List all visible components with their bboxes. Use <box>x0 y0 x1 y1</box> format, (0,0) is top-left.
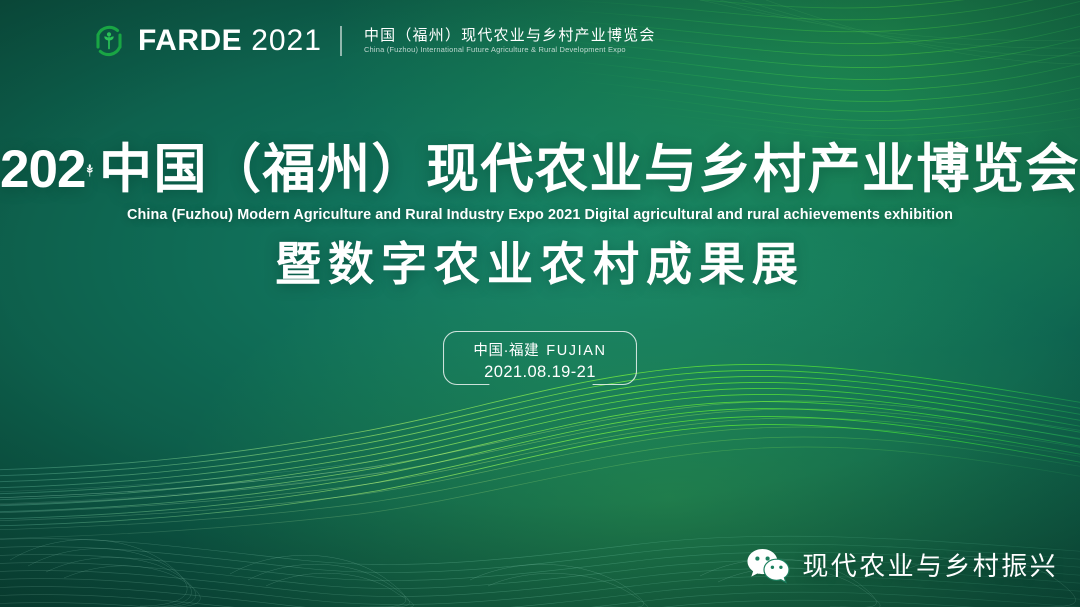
wechat-account[interactable]: 现代农业与乡村振兴 <box>746 547 1058 585</box>
badge-location-en: FUJIAN <box>546 343 606 359</box>
badge-location-cn: 中国·福建 <box>473 343 539 359</box>
badge-location: 中国·福建FUJIAN <box>443 339 637 360</box>
farde-sprout-logo-icon <box>92 24 126 58</box>
location-date-badge: 中国·福建FUJIAN 2021.08.19-21 <box>443 331 637 386</box>
wheat-sprout-icon <box>85 146 95 194</box>
header-divider <box>340 26 342 56</box>
background-decoration <box>0 0 1080 607</box>
main-title: 202 中国（福州）现代农业与乡村产业博览会 <box>0 142 1080 198</box>
header-title-cn: 中国（福州）现代农业与乡村产业博览会 <box>364 27 656 44</box>
title-year-prefix: 202 <box>0 142 85 198</box>
wechat-icon <box>746 547 790 585</box>
title-main-cn: 中国（福州）现代农业与乡村产业博览会 <box>99 142 1080 198</box>
header-names: 中国（福州）现代农业与乡村产业博览会 China (Fuzhou) Intern… <box>364 27 656 55</box>
vignette-overlay <box>0 0 1080 607</box>
expo-poster: FARDE 2021 中国（福州）现代农业与乡村产业博览会 China (Fuz… <box>0 0 1080 607</box>
brand-wordmark: FARDE 2021 <box>138 26 322 56</box>
title-english-line: China (Fuzhou) Modern Agriculture and Ru… <box>0 207 1080 223</box>
brand-header: FARDE 2021 中国（福州）现代农业与乡村产业博览会 China (Fuz… <box>92 24 656 58</box>
title-sub-cn: 暨数字农业农村成果展 <box>0 239 1080 290</box>
brand-name: FARDE <box>138 26 242 56</box>
title-block: 202 中国（福州）现代农业与乡村产业博览会 China (Fuzhou) Mo… <box>0 142 1080 290</box>
brand-year: 2021 <box>251 26 322 56</box>
wave-pattern-graphic <box>0 0 1080 607</box>
header-title-en: China (Fuzhou) International Future Agri… <box>364 46 656 55</box>
badge-date: 2021.08.19-21 <box>443 363 637 382</box>
wechat-account-name: 现代农业与乡村振兴 <box>802 553 1058 579</box>
